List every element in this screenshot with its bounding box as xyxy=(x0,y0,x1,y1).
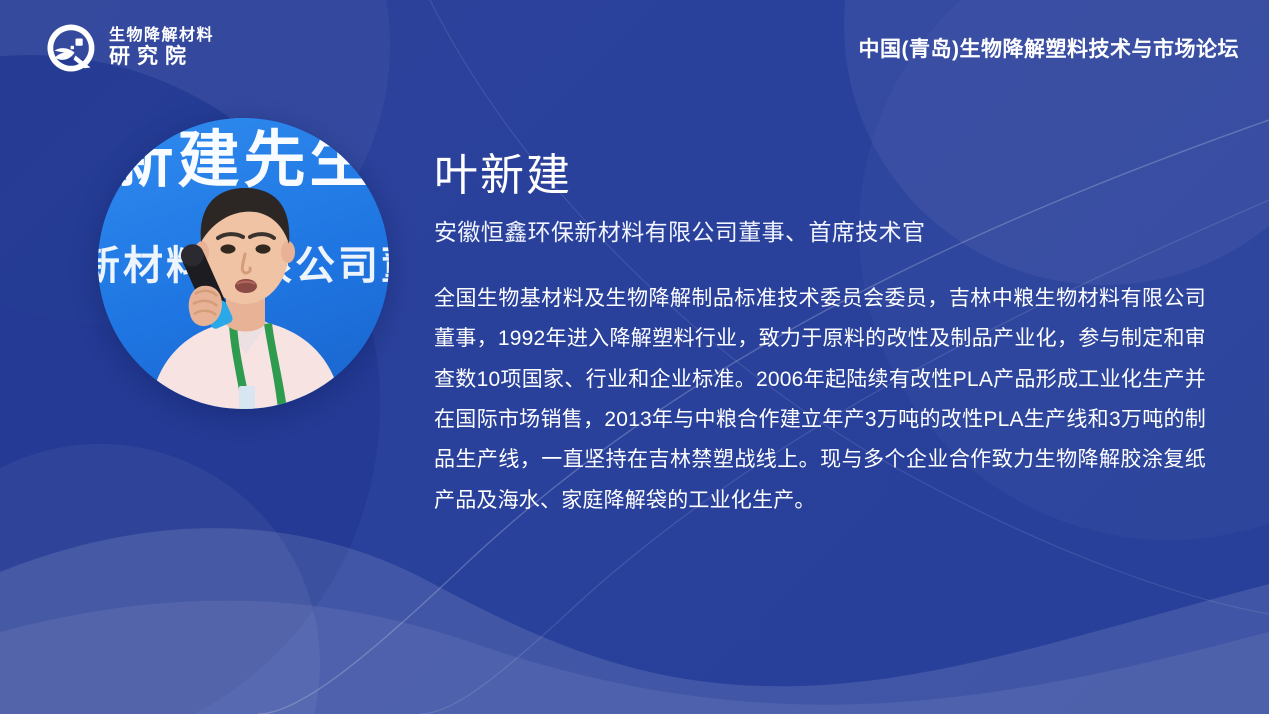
leaf-circle-logo-icon xyxy=(44,21,98,75)
portrait-person-illustration xyxy=(98,118,389,409)
decorative-circle-bottom-left xyxy=(0,444,320,714)
speaker-title: 安徽恒鑫环保新材料有限公司董事、首席技术官 xyxy=(434,217,1206,248)
slide-root: 生物降解材料 研究院 中国(青岛)生物降解塑料技术与市场论坛 新建先生 新材料有… xyxy=(0,0,1269,714)
speaker-name: 叶新建 xyxy=(434,150,1206,201)
brand-line-1: 生物降解材料 xyxy=(109,28,214,45)
brand-logo: 生物降解材料 研究院 xyxy=(44,21,214,75)
forum-title: 中国(青岛)生物降解塑料技术与市场论坛 xyxy=(859,33,1240,63)
speaker-bio: 全国生物基材料及生物降解制品标准技术委员会委员，吉林中粮生物材料有限公司董事，1… xyxy=(434,279,1206,521)
speaker-content: 叶新建 安徽恒鑫环保新材料有限公司董事、首席技术官 全国生物基材料及生物降解制品… xyxy=(434,150,1206,521)
portrait-circle: 新建先生 新材料有限公司董事 xyxy=(98,118,389,409)
brand-line-2: 研究院 xyxy=(109,46,214,68)
slide-header: 生物降解材料 研究院 中国(青岛)生物降解塑料技术与市场论坛 xyxy=(0,0,1269,96)
brand-text: 生物降解材料 研究院 xyxy=(109,28,214,69)
speaker-portrait: 新建先生 新材料有限公司董事 xyxy=(98,118,389,409)
